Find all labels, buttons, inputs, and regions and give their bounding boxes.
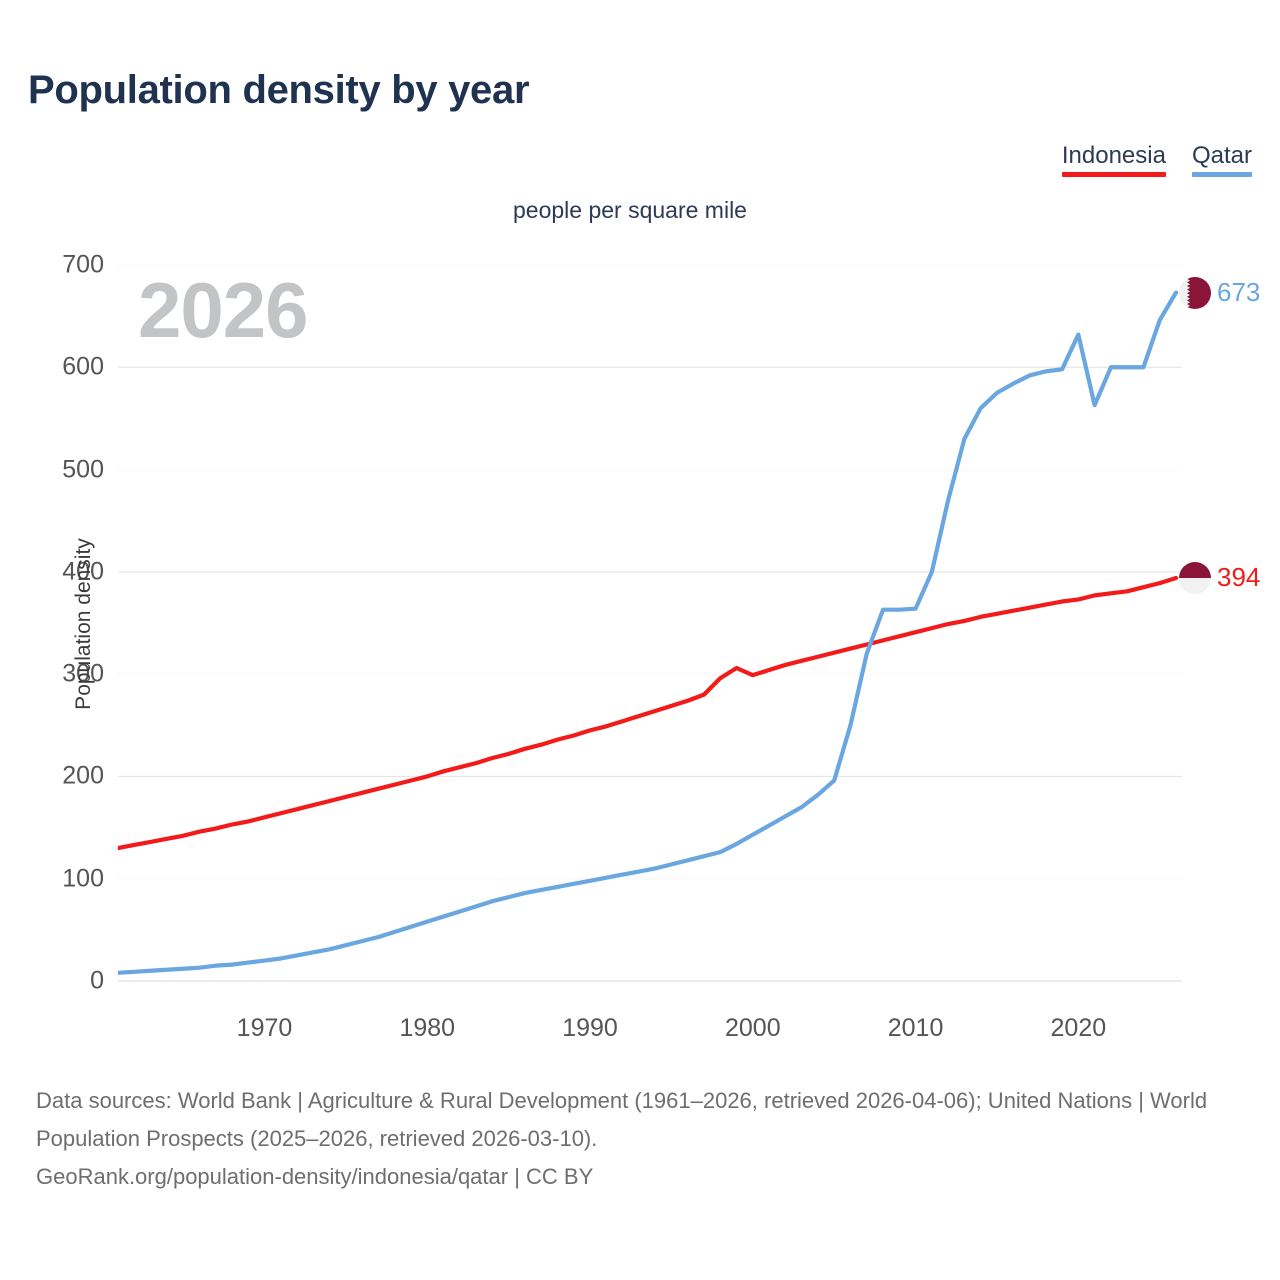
legend: Indonesia Qatar (1062, 143, 1252, 177)
legend-item-indonesia[interactable]: Indonesia (1062, 143, 1166, 177)
legend-color-swatch-qatar (1192, 172, 1252, 177)
series-line-qatar[interactable] (118, 293, 1176, 973)
legend-item-label: Indonesia (1062, 143, 1166, 169)
page-title: Population density by year (28, 68, 529, 113)
x-axis-tick-labels: 197019801990200020102020 (0, 1014, 1280, 1050)
legend-color-swatch-indonesia (1062, 172, 1166, 177)
plot-area (118, 250, 1182, 990)
y-axis-tick-label: 0 (90, 967, 104, 996)
footer: Data sources: World Bank | Agriculture &… (36, 1082, 1256, 1196)
footer-attribution: GeoRank.org/population-density/indonesia… (36, 1158, 1256, 1196)
y-axis-tick-label: 500 (62, 455, 104, 484)
y-axis-title: Population density (72, 524, 96, 724)
series-lines (118, 293, 1176, 973)
y-axis-tick-label: 100 (62, 864, 104, 893)
qatar-flag-icon (1179, 277, 1211, 309)
plot-svg (118, 250, 1182, 990)
units-label: people per square mile (513, 197, 747, 224)
y-axis-tick-label: 700 (62, 251, 104, 280)
series-line-indonesia[interactable] (118, 578, 1176, 848)
legend-item-label: Qatar (1192, 143, 1252, 169)
y-axis-tick-label: 200 (62, 762, 104, 791)
x-axis-tick-label: 2020 (1051, 1014, 1107, 1043)
end-marker-indonesia[interactable]: 394 (1179, 562, 1260, 594)
end-marker-qatar[interactable]: 673 (1179, 277, 1260, 309)
x-axis-tick-label: 1980 (399, 1014, 455, 1043)
x-axis-tick-label: 2000 (725, 1014, 781, 1043)
gridlines (118, 265, 1182, 981)
footer-sources: Data sources: World Bank | Agriculture &… (36, 1082, 1256, 1158)
indonesia-flag-icon (1179, 562, 1211, 594)
y-axis-tick-label: 600 (62, 353, 104, 382)
chart-root: Population density by year Indonesia Qat… (0, 0, 1280, 1280)
x-axis-tick-label: 1990 (562, 1014, 618, 1043)
end-value-label: 394 (1217, 562, 1260, 593)
x-axis-tick-label: 1970 (237, 1014, 293, 1043)
x-axis-tick-label: 2010 (888, 1014, 944, 1043)
end-value-label: 673 (1217, 277, 1260, 308)
legend-item-qatar[interactable]: Qatar (1192, 143, 1252, 177)
